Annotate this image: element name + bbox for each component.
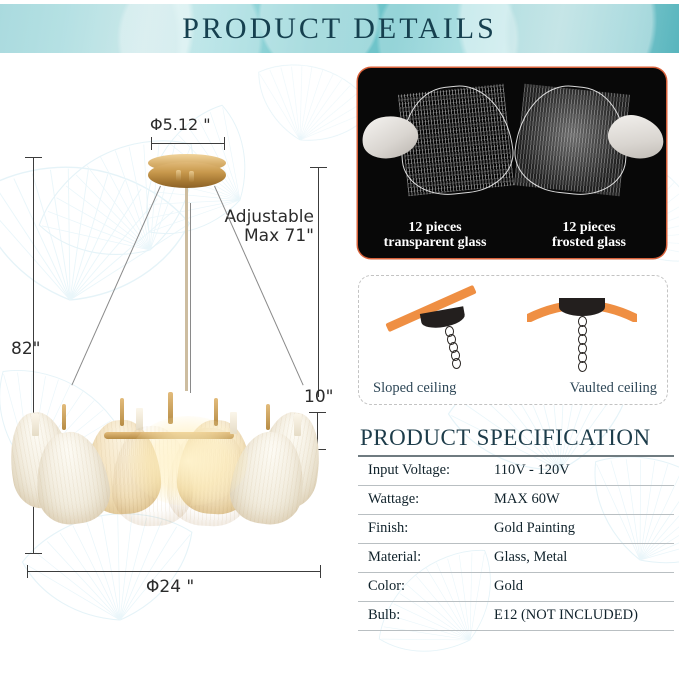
fixture-diameter-tick-right (320, 565, 321, 578)
spec-key: Bulb: (358, 601, 488, 630)
suspension-wire-left (71, 186, 161, 386)
center-cord (190, 203, 191, 393)
ceiling-types-panel: Sloped ceiling Vaulted ceiling (358, 275, 668, 405)
transparent-glass-caption-line2: transparent glass (360, 235, 510, 250)
table-row: Wattage: MAX 60W (358, 485, 674, 514)
spec-key: Material: (358, 543, 488, 572)
transparent-glass-caption: 12 pieces transparent glass (360, 220, 510, 250)
brass-arm-3 (168, 392, 173, 424)
canopy-dim-tick-left (151, 137, 152, 150)
spec-value: MAX 60W (488, 485, 674, 514)
spec-value: E12 (NOT INCLUDED) (488, 601, 674, 630)
spec-key: Wattage: (358, 485, 488, 514)
table-row: Material: Glass, Metal (358, 543, 674, 572)
total-height-tick-bottom (25, 553, 42, 554)
fixture-diameter-tick-left (27, 565, 28, 578)
adjustable-label-line2: Max 71" (244, 226, 314, 246)
spec-value: Glass, Metal (488, 543, 674, 572)
product-specification-section: PRODUCT SPECIFICATION Input Voltage: 110… (358, 425, 674, 631)
spec-value: Gold Painting (488, 514, 674, 543)
fixture-diameter-dim-line (27, 571, 321, 572)
spec-value: 110V - 120V (488, 457, 674, 486)
chandelier-fixture (8, 386, 328, 526)
brass-arm-2 (120, 398, 124, 426)
specification-table-body: Input Voltage: 110V - 120V Wattage: MAX … (358, 457, 674, 631)
canopy-screw-left (176, 170, 181, 181)
spec-title: PRODUCT SPECIFICATION (358, 425, 674, 451)
spec-key: Finish: (358, 514, 488, 543)
adjustable-label-line1: Adjustable (224, 207, 314, 227)
sloped-chain-link-5 (452, 358, 461, 369)
canopy-screw-right (189, 171, 194, 182)
total-height-tick-top (25, 157, 42, 158)
glass-pieces-panel: 12 pieces transparent glass 12 pieces fr… (358, 68, 666, 258)
right-column: 12 pieces transparent glass 12 pieces fr… (345, 53, 679, 677)
center-rod (185, 186, 188, 391)
fixture-diameter-label: Φ24 " (146, 577, 194, 597)
canopy-dim-line (151, 143, 225, 144)
vaulted-ceiling-mount (559, 298, 605, 316)
specification-table: Input Voltage: 110V - 120V Wattage: MAX … (358, 457, 674, 631)
table-row: Input Voltage: 110V - 120V (358, 457, 674, 486)
total-height-label: 82" (11, 339, 40, 359)
product-dimension-diagram: Φ5.12 " Adjustable Max 71" 82" 10" (0, 53, 345, 677)
table-row: Bulb: E12 (NOT INCLUDED) (358, 601, 674, 630)
table-row: Finish: Gold Painting (358, 514, 674, 543)
spec-value: Gold (488, 572, 674, 601)
frosted-glass-caption-line1: 12 pieces (514, 220, 664, 235)
brass-arm-4 (214, 398, 218, 426)
candle-sleeve-3 (230, 412, 237, 434)
ceiling-canopy (148, 154, 226, 190)
adjustable-dim-tick-top (310, 167, 327, 168)
frosted-glass-caption-line2: frosted glass (514, 235, 664, 250)
page-banner: PRODUCT DETAILS (0, 4, 679, 53)
canopy-dim-tick-right (224, 137, 225, 150)
adjustable-dim-line (318, 167, 319, 397)
canopy-diameter-label: Φ5.12 " (150, 115, 211, 134)
vaulted-ceiling-label: Vaulted ceiling (570, 380, 657, 397)
brass-arm-1 (62, 404, 66, 430)
candle-sleeve-1 (32, 414, 39, 436)
transparent-glass-caption-line1: 12 pieces (360, 220, 510, 235)
candle-sleeve-4 (294, 414, 301, 436)
sloped-ceiling-label: Sloped ceiling (373, 380, 456, 397)
adjustable-label: Adjustable Max 71" (214, 208, 314, 246)
table-row: Color: Gold (358, 572, 674, 601)
frosted-glass-caption: 12 pieces frosted glass (514, 220, 664, 250)
canopy-rim (148, 162, 226, 188)
vaulted-chain-link-6 (578, 361, 587, 372)
page-title: PRODUCT DETAILS (182, 12, 497, 46)
brass-arm-5 (266, 404, 270, 430)
spec-key: Color: (358, 572, 488, 601)
spec-key: Input Voltage: (358, 457, 488, 486)
